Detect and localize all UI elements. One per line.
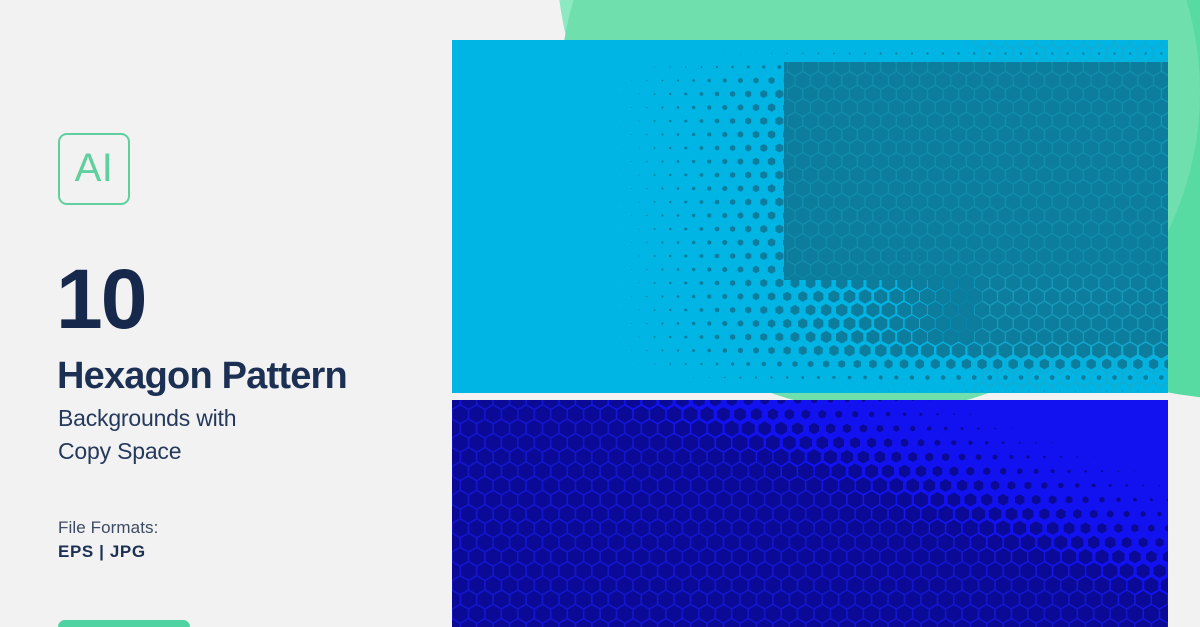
blue-halftone-layer — [452, 400, 1168, 627]
page-subtitle: Backgrounds with Copy Space — [58, 402, 236, 468]
item-count: 10 — [56, 257, 145, 341]
cta-button[interactable] — [58, 620, 190, 627]
page-subtitle-line-2: Copy Space — [58, 435, 236, 468]
page-title: Hexagon Pattern — [57, 354, 347, 398]
page-subtitle-line-1: Backgrounds with — [58, 402, 236, 435]
cyan-hexagon-halftone-preview[interactable] — [452, 40, 1168, 393]
preview-canvas: AI 10 Hexagon Pattern Backgrounds with C… — [0, 0, 1200, 627]
file-formats-value: EPS | JPG — [58, 542, 146, 562]
cyan-halftone-overlay-layer — [452, 40, 1168, 393]
adobe-illustrator-badge-icon: AI — [58, 133, 130, 205]
blue-hexagon-halftone-preview[interactable] — [452, 400, 1168, 627]
info-column: AI 10 Hexagon Pattern Backgrounds with C… — [0, 0, 452, 627]
file-formats-label: File Formats: — [58, 518, 158, 538]
